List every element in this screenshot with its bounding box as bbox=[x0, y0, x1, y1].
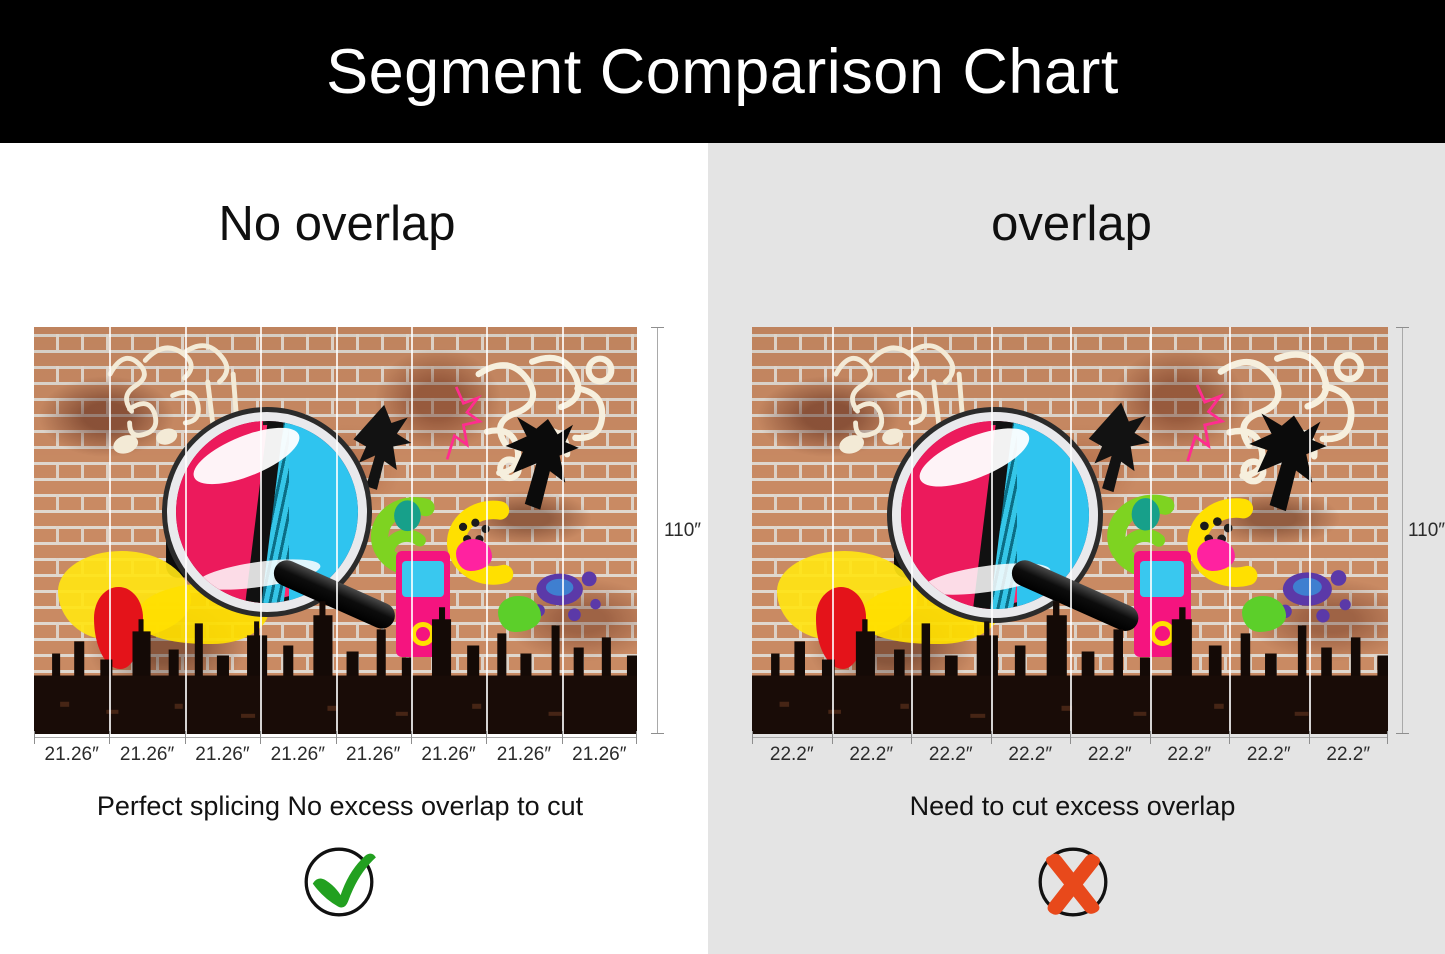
segment-label: 21.26″ bbox=[562, 744, 637, 766]
segment-label: 22.2″ bbox=[752, 744, 832, 766]
panel-heading-no-overlap: No overlap bbox=[0, 200, 708, 249]
height-dimension-line-left bbox=[657, 327, 658, 734]
height-dimension-label-left: 110″ bbox=[664, 520, 701, 542]
width-dimension-ticks-right bbox=[752, 731, 1388, 744]
mural-overlap bbox=[752, 327, 1388, 734]
city-skyline-silhouette-2 bbox=[752, 563, 1388, 734]
graffiti-brick-wall-mural-2 bbox=[752, 327, 1388, 734]
width-dimension-ticks-left bbox=[34, 731, 637, 744]
page-root: Segment Comparison Chart No overlap bbox=[0, 0, 1445, 954]
verdict-no-overlap bbox=[0, 841, 708, 923]
check-mark-icon bbox=[298, 841, 380, 923]
segment-label: 22.2″ bbox=[1070, 744, 1150, 766]
segment-label: 22.2″ bbox=[991, 744, 1071, 766]
cross-mark-icon bbox=[1032, 841, 1114, 923]
title-banner: Segment Comparison Chart bbox=[0, 0, 1445, 143]
neon-outline-figure-graffiti-icon bbox=[420, 368, 492, 482]
segment-label: 21.26″ bbox=[34, 744, 109, 766]
segment-label: 22.2″ bbox=[1150, 744, 1230, 766]
segment-labels-right: 22.2″ 22.2″ 22.2″ 22.2″ 22.2″ 22.2″ 22.2… bbox=[752, 744, 1388, 766]
segment-label: 21.26″ bbox=[185, 744, 260, 766]
segment-label: 22.2″ bbox=[832, 744, 912, 766]
panel-no-overlap: No overlap bbox=[0, 143, 708, 954]
segment-label: 22.2″ bbox=[1309, 744, 1389, 766]
segment-labels-left: 21.26″ 21.26″ 21.26″ 21.26″ 21.26″ 21.26… bbox=[34, 744, 637, 766]
panel-overlap: overlap bbox=[708, 143, 1445, 954]
segment-label: 21.26″ bbox=[486, 744, 561, 766]
segment-label: 21.26″ bbox=[109, 744, 184, 766]
segment-label: 21.26″ bbox=[411, 744, 486, 766]
segment-label: 22.2″ bbox=[1229, 744, 1309, 766]
city-skyline-silhouette bbox=[34, 563, 637, 734]
verdict-overlap bbox=[708, 841, 1445, 923]
segment-label: 21.26″ bbox=[336, 744, 411, 766]
panel-heading-overlap: overlap bbox=[708, 200, 1445, 249]
mural-no-overlap bbox=[34, 327, 637, 734]
caption-no-overlap: Perfect splicing No excess overlap to cu… bbox=[0, 791, 708, 822]
segment-label: 21.26″ bbox=[260, 744, 335, 766]
height-dimension-line-right bbox=[1402, 327, 1403, 734]
height-dimension-label-right: 110″ bbox=[1408, 520, 1445, 542]
graffiti-brick-wall-mural bbox=[34, 327, 637, 734]
page-title: Segment Comparison Chart bbox=[326, 36, 1119, 108]
neon-outline-figure-graffiti-icon-2 bbox=[1159, 368, 1235, 482]
caption-overlap: Need to cut excess overlap bbox=[708, 791, 1445, 822]
segment-label: 22.2″ bbox=[911, 744, 991, 766]
